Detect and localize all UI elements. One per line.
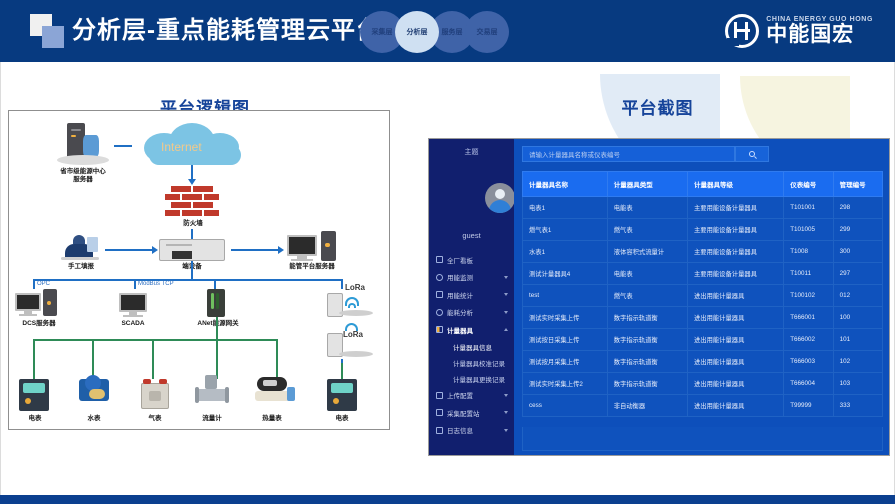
cell-grade: 主要用能设备计量器具: [687, 197, 783, 219]
phase-label: 采集层: [372, 27, 393, 37]
sidebar-item-label: 用能监测: [447, 272, 473, 282]
table-row[interactable]: 电表1电能表主要用能设备计量器具T101001298: [523, 197, 883, 219]
table-row[interactable]: 测试按月采集上传数字指示轨道衡进出用能计量器具T666003102: [523, 351, 883, 373]
cell-type: 数字指示轨道衡: [607, 329, 687, 351]
protocol-opc-label: OPC: [37, 281, 50, 287]
cell-mgmt-no: 299: [833, 219, 882, 241]
meter-label-0: 电表: [9, 415, 61, 423]
search-icon: [749, 151, 755, 157]
overlapping-squares-logo-icon: [30, 14, 68, 50]
table-row[interactable]: 测试实时采集上传数字指示轨道衡进出用能计量器具T666001100: [523, 307, 883, 329]
platform-server-label: 能管平台服务器: [281, 263, 343, 271]
user-name: guest: [429, 231, 514, 240]
cell-type: 燃气表: [607, 219, 687, 241]
cell-type: 燃气表: [607, 285, 687, 307]
cell-device-no: T666003: [784, 351, 833, 373]
cell-name: 测试按日采集上传: [523, 329, 608, 351]
cell-name: 燃气表1: [523, 219, 608, 241]
sidebar-item-collect-config[interactable]: 采集配置站: [429, 404, 514, 422]
right-column: 平台截图 主题 guest 全厂看板 用能监测: [420, 62, 895, 480]
table-row[interactable]: 测试按日采集上传数字指示轨道衡进出用能计量器具T666002101: [523, 329, 883, 351]
cell-device-no: T100102: [784, 285, 833, 307]
phase-label: 分析层: [407, 27, 428, 37]
cell-mgmt-no: 101: [833, 329, 882, 351]
cell-type: 数字指示轨道衡: [607, 373, 687, 395]
lora-label-1: LoRa: [345, 283, 365, 292]
analysis-icon: [436, 309, 443, 316]
sidebar-item-dashboard[interactable]: 全厂看板: [429, 251, 514, 269]
table-row[interactable]: test燃气表进出用能计量器具T100102012: [523, 285, 883, 307]
protocol-modbus-label: ModBus TCP: [138, 281, 174, 287]
cell-mgmt-no: 298: [833, 197, 882, 219]
sidebar-item-monitoring[interactable]: 用能监测: [429, 269, 514, 287]
bottom-bar: [0, 495, 895, 504]
cell-type: 非自动衡器: [607, 395, 687, 417]
table-row[interactable]: 水表1液体容积式流量计主要用能设备计量器具T1008300: [523, 241, 883, 263]
lora-label-2: LoRa: [343, 330, 363, 339]
scada-label: SCADA: [107, 320, 159, 328]
cell-name: 测试按月采集上传: [523, 351, 608, 373]
avatar[interactable]: [485, 183, 515, 213]
sidebar-item-upload-config[interactable]: 上传配置: [429, 387, 514, 405]
phase-circle-trade[interactable]: 交易层: [465, 11, 509, 53]
search-input[interactable]: 请输入计量器具名称或仪表编号: [522, 146, 735, 162]
phase-circle-analysis[interactable]: 分析层: [395, 11, 439, 53]
cell-device-no: T101005: [784, 219, 833, 241]
cell-grade: 主要用能设备计量器具: [687, 219, 783, 241]
cell-name: 测试计量器具4: [523, 263, 608, 285]
chevron-down-icon: [504, 394, 508, 397]
sidebar-item-label: 计量器具: [447, 325, 473, 335]
column-header-name[interactable]: 计量器具名称: [523, 172, 608, 197]
cell-type: 数字指示轨道衡: [607, 307, 687, 329]
chevron-down-icon: [504, 411, 508, 414]
sidebar-item-label: 日志信息: [447, 425, 473, 435]
page-title: 分析层-重点能耗管理云平台: [72, 12, 381, 50]
cell-type: 电能表: [607, 197, 687, 219]
cell-name: 水表1: [523, 241, 608, 263]
monitor-icon: [436, 274, 443, 281]
platform-logic-diagram: 省市级能源中心 服务器 Internet: [8, 110, 390, 430]
page-header: 分析层-重点能耗管理云平台 采集层 服务层 交易层 分析层 CHINA ENER…: [0, 0, 895, 62]
cell-type: 数字指示轨道衡: [607, 351, 687, 373]
phase-circles: 采集层 服务层 交易层 分析层: [360, 11, 510, 53]
edge-device-icon: [159, 239, 225, 261]
cell-mgmt-no: 333: [833, 395, 882, 417]
table-row[interactable]: 测试计量器具4电能表主要用能设备计量器具T10011297: [523, 263, 883, 285]
internet-label: Internet: [161, 140, 202, 154]
meter-label-1: 水表: [68, 415, 120, 423]
cell-grade: 进出用能计量器具: [687, 373, 783, 395]
chevron-down-icon: [504, 293, 508, 296]
cell-type: 电能表: [607, 263, 687, 285]
upload-icon: [436, 392, 443, 399]
sidebar-item-label: 采集配置站: [447, 408, 480, 418]
chevron-down-icon: [504, 311, 508, 314]
firewall-label: 防火墙: [161, 220, 225, 228]
column-header-device-no[interactable]: 仪表编号: [784, 172, 833, 197]
phase-label: 交易层: [477, 27, 498, 37]
cell-mgmt-no: 012: [833, 285, 882, 307]
cell-device-no: T1008: [784, 241, 833, 263]
table-row[interactable]: 测试实时采集上传2数字指示轨道衡进出用能计量器具T666004103: [523, 373, 883, 395]
cell-name: cess: [523, 395, 608, 417]
sidebar-item-logs[interactable]: 日志信息: [429, 422, 514, 440]
left-column: 平台逻辑图 省市级能源中心 服务器: [0, 62, 410, 480]
sidebar-menu: 全厂看板 用能监测 用能统计 能耗分析: [429, 251, 514, 439]
cell-grade: 进出用能计量器具: [687, 329, 783, 351]
cell-name: 电表1: [523, 197, 608, 219]
cell-grade: 主要用能设备计量器具: [687, 263, 783, 285]
cell-type: 液体容积式流量计: [607, 241, 687, 263]
cell-device-no: T101001: [784, 197, 833, 219]
sidebar-item-meters[interactable]: 计量器具: [429, 321, 514, 339]
dashboard-icon: [436, 256, 443, 263]
guohong-mark-icon: [725, 14, 759, 48]
cell-grade: 进出用能计量器具: [687, 351, 783, 373]
meter-label-5: 电表: [316, 415, 368, 423]
brand-english: CHINA ENERGY GUO HONG: [766, 16, 873, 23]
sidebar-subitem-calibration-records[interactable]: 计量器具校准记录: [429, 355, 514, 371]
platform-screenshot: 主题 guest 全厂看板 用能监测: [428, 138, 890, 456]
cell-name: 测试实时采集上传2: [523, 373, 608, 395]
central-server-label: 省市级能源中心 服务器: [47, 168, 119, 184]
dcs-server-label: DCS服务器: [11, 320, 67, 328]
sidebar-item-label: 能耗分析: [447, 307, 473, 317]
brand-chinese: 中能国宏: [766, 23, 873, 47]
cell-device-no: T666001: [784, 307, 833, 329]
cell-device-no: T666004: [784, 373, 833, 395]
app-sidebar: 主题 guest 全厂看板 用能监测: [429, 139, 514, 456]
meter-label-2: 气表: [129, 415, 181, 423]
cell-grade: 主要用能设备计量器具: [687, 241, 783, 263]
app-main: 请输入计量器具名称或仪表编号 计量器具名称 计量器具类型 计量器具等级 仪表编号…: [514, 139, 890, 456]
column-header-type[interactable]: 计量器具类型: [607, 172, 687, 197]
cell-mgmt-no: 102: [833, 351, 882, 373]
cell-mgmt-no: 103: [833, 373, 882, 395]
table-footer: [522, 427, 883, 451]
manual-entry-label: 手工填报: [55, 263, 107, 271]
table-row[interactable]: cess非自动衡器进出用能计量器具T99999333: [523, 395, 883, 417]
log-icon: [436, 427, 443, 434]
cell-name: test: [523, 285, 608, 307]
phase-label: 服务层: [442, 27, 463, 37]
sidebar-item-statistics[interactable]: 用能统计: [429, 286, 514, 304]
column-header-grade[interactable]: 计量器具等级: [687, 172, 783, 197]
slide-page: 分析层-重点能耗管理云平台 采集层 服务层 交易层 分析层 CHINA ENER…: [0, 0, 895, 504]
anet-gateway-label: ANet能源网关: [187, 320, 249, 328]
sidebar-item-label: 全厂看板: [447, 255, 473, 265]
cell-device-no: T10011: [784, 263, 833, 285]
search-placeholder: 请输入计量器具名称或仪表编号: [523, 149, 620, 159]
cell-mgmt-no: 297: [833, 263, 882, 285]
right-section-title: 平台截图: [420, 94, 895, 119]
meter-icon: [436, 326, 443, 333]
table-header-row: 计量器具名称 计量器具类型 计量器具等级 仪表编号 管理编号: [523, 172, 883, 197]
meters-table: 计量器具名称 计量器具类型 计量器具等级 仪表编号 管理编号 电表1电能表主要用…: [522, 171, 883, 417]
sidebar-item-label: 用能统计: [447, 290, 473, 300]
chart-icon: [436, 291, 443, 298]
meter-label-4: 热量表: [246, 415, 298, 423]
cell-device-no: T99999: [784, 395, 833, 417]
cell-mgmt-no: 300: [833, 241, 882, 263]
chevron-up-icon: [504, 328, 508, 331]
column-header-mgmt-no[interactable]: 管理编号: [833, 172, 882, 197]
sidebar-item-analysis[interactable]: 能耗分析: [429, 304, 514, 322]
theme-label[interactable]: 主题: [429, 139, 514, 165]
cell-grade: 进出用能计量器具: [687, 285, 783, 307]
cell-mgmt-no: 100: [833, 307, 882, 329]
collect-icon: [436, 409, 443, 416]
meter-label-3: 流量计: [186, 415, 238, 423]
brand-logo: CHINA ENERGY GUO HONG 中能国宏: [725, 13, 873, 49]
table-row[interactable]: 燃气表1燃气表主要用能设备计量器具T101005299: [523, 219, 883, 241]
search-button[interactable]: [735, 146, 769, 162]
sidebar-subitem-replacement-records[interactable]: 计量器具更换记录: [429, 371, 514, 387]
cell-name: 测试实时采集上传: [523, 307, 608, 329]
cell-grade: 进出用能计量器具: [687, 307, 783, 329]
sidebar-subitem-meter-info[interactable]: 计量器具信息: [429, 339, 514, 355]
cell-device-no: T666002: [784, 329, 833, 351]
chevron-down-icon: [504, 429, 508, 432]
sidebar-item-label: 上传配置: [447, 390, 473, 400]
chevron-down-icon: [504, 276, 508, 279]
cell-grade: 进出用能计量器具: [687, 395, 783, 417]
